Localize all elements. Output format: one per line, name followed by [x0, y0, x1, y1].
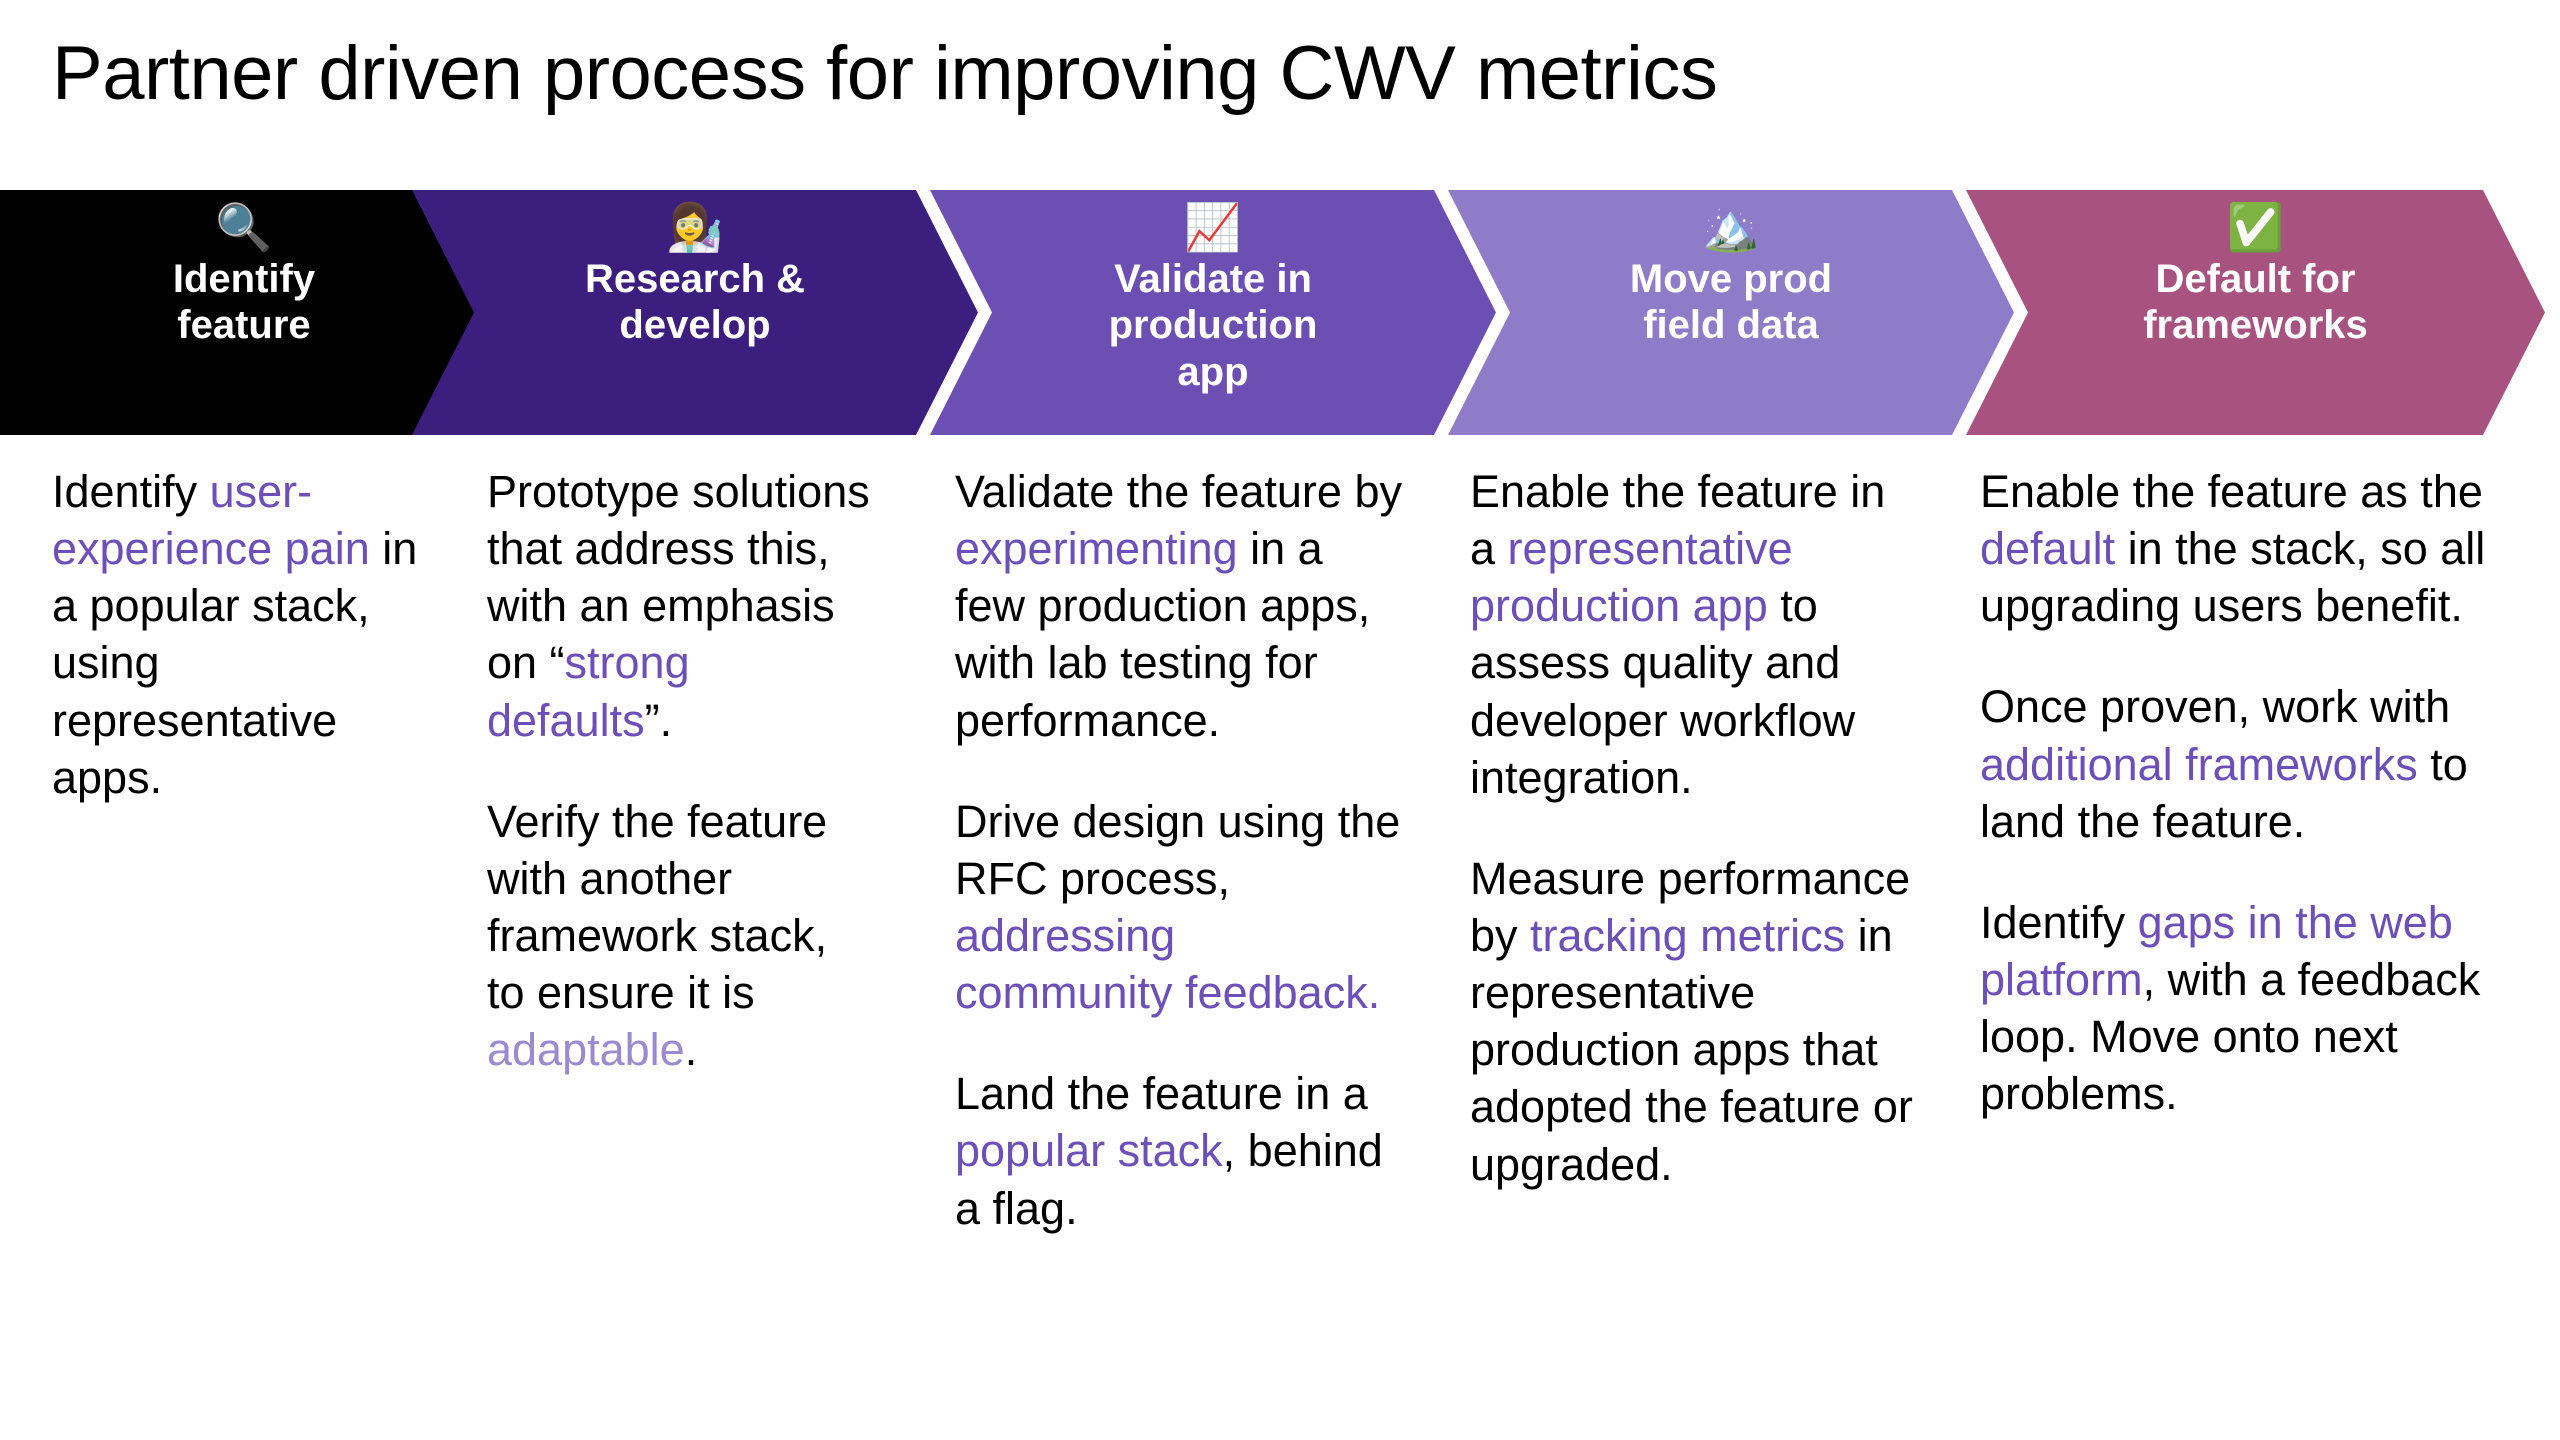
woman-scientist-icon: 👩‍🔬 — [666, 204, 723, 256]
description-paragraph: Enable the feature in a representative p… — [1470, 463, 1920, 806]
magnifying-glass-icon: 🔍 — [215, 204, 272, 256]
description-paragraph: Validate the feature by experimenting in… — [955, 463, 1405, 749]
description-paragraph: Verify the feature with another framewor… — [487, 793, 872, 1079]
process-step-content: 👩‍🔬Research & develop — [412, 204, 978, 349]
process-step-content: ✅Default for frameworks — [1966, 204, 2545, 349]
process-step-move-prod-field-data[interactable]: 🏔️Move prod field data — [1448, 190, 2014, 435]
column-move-prod-field-data: Enable the feature in a representative p… — [1470, 463, 1920, 1193]
highlight-text: default — [1980, 523, 2115, 574]
body-text: Identify — [52, 466, 210, 517]
page-title: Partner driven process for improving CWV… — [52, 32, 1717, 116]
highlight-text: tracking metrics — [1530, 910, 1845, 961]
description-paragraph: Prototype solutions that address this, w… — [487, 463, 872, 749]
description-paragraph: Enable the feature as the default in the… — [1980, 463, 2520, 634]
highlight-text: popular stack — [955, 1125, 1223, 1176]
body-text: Validate the feature by — [955, 466, 1402, 517]
process-step-validate-in-production-app[interactable]: 📈Validate in production app — [930, 190, 1496, 435]
highlight-text: additional frameworks — [1980, 739, 2418, 790]
process-step-research-develop[interactable]: 👩‍🔬Research & develop — [412, 190, 978, 435]
snow-capped-mountain-icon: 🏔️ — [1702, 204, 1759, 256]
column-identify-feature: Identify user-experience pain in a popul… — [52, 463, 422, 806]
column-research-develop: Prototype solutions that address this, w… — [487, 463, 872, 1078]
description-paragraph: Land the feature in a popular stack, beh… — [955, 1065, 1405, 1236]
process-step-label: Default for frameworks — [2133, 256, 2378, 349]
body-text: Enable the feature as the — [1980, 466, 2483, 517]
process-step-label: Identify feature — [163, 256, 325, 349]
process-step-content: 📈Validate in production app — [930, 204, 1496, 395]
body-text: Identify — [1980, 897, 2138, 948]
check-mark-button-icon: ✅ — [2227, 204, 2284, 256]
highlight-text-light: adaptable — [487, 1024, 685, 1075]
description-paragraph: Drive design using the RFC process, addr… — [955, 793, 1405, 1022]
highlight-text: experimenting — [955, 523, 1238, 574]
highlight-text: representative production app — [1470, 523, 1793, 631]
process-step-label: Research & develop — [575, 256, 815, 349]
slide: Partner driven process for improving CWV… — [0, 0, 2560, 1440]
body-text: . — [685, 1024, 698, 1075]
column-validate-in-production-app: Validate the feature by experimenting in… — [955, 463, 1405, 1237]
body-text: Drive design using the RFC process, — [955, 796, 1400, 904]
body-text: ”. — [645, 695, 673, 746]
chart-increasing-icon: 📈 — [1184, 204, 1241, 256]
description-paragraph: Once proven, work with additional framew… — [1980, 678, 2520, 849]
process-step-label: Validate in production app — [1099, 256, 1328, 395]
description-paragraph: Identify gaps in the web platform, with … — [1980, 894, 2520, 1123]
process-step-default-for-frameworks[interactable]: ✅Default for frameworks — [1966, 190, 2545, 435]
description-paragraph: Measure performance by tracking metrics … — [1470, 850, 1920, 1193]
body-text: Land the feature in a — [955, 1068, 1368, 1119]
description-paragraph: Identify user-experience pain in a popul… — [52, 463, 422, 806]
body-text: Verify the feature with another framewor… — [487, 796, 827, 1018]
column-default-for-frameworks: Enable the feature as the default in the… — [1980, 463, 2520, 1122]
process-step-content: 🏔️Move prod field data — [1448, 204, 2014, 349]
process-chevron-band: 🔍Identify feature👩‍🔬Research & develop📈V… — [0, 190, 2560, 435]
highlight-text: addressing community feedback. — [955, 910, 1380, 1018]
body-text: Once proven, work with — [1980, 681, 2450, 732]
process-step-label: Move prod field data — [1620, 256, 1842, 349]
